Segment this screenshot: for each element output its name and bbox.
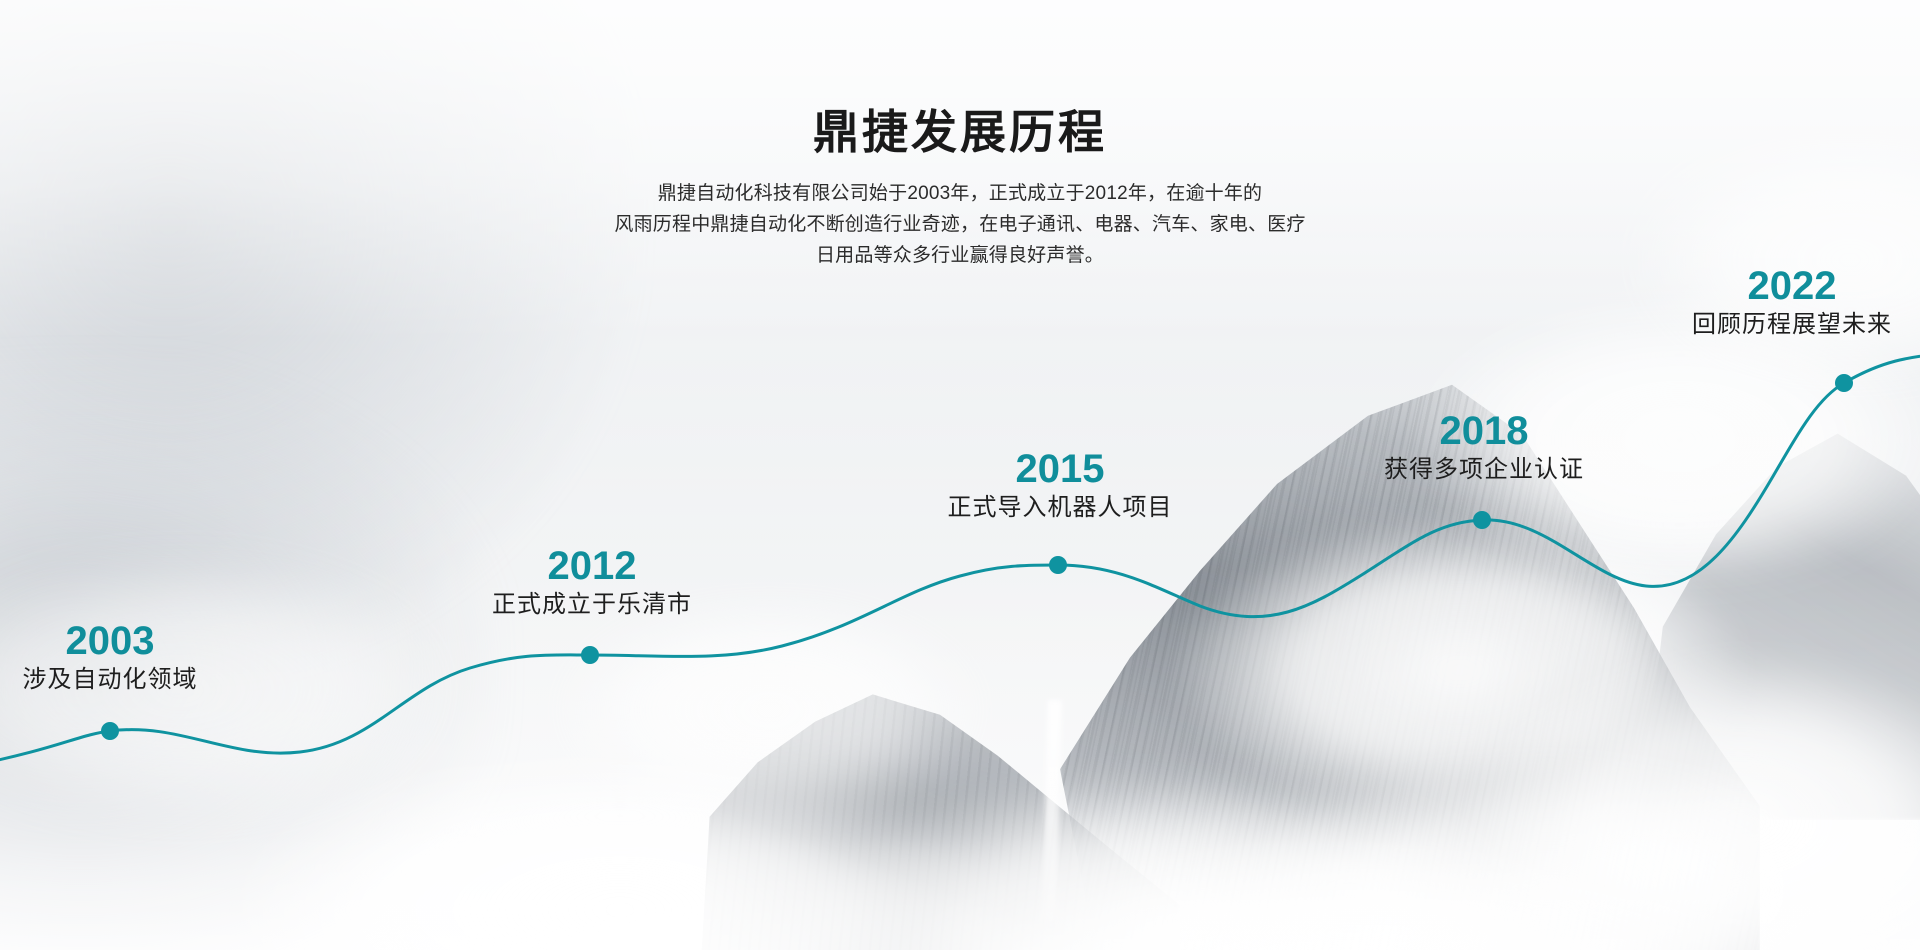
milestone-year: 2012	[492, 545, 692, 587]
milestone-caption: 获得多项企业认证	[1384, 456, 1584, 485]
timeline-node-2003[interactable]	[101, 722, 119, 740]
page-subtitle: 鼎捷自动化科技有限公司始于2003年，正式成立于2012年，在逾十年的 风雨历程…	[0, 178, 1920, 271]
timeline-node-2015[interactable]	[1049, 556, 1067, 574]
milestone-2022[interactable]: 2022 回顾历程展望未来	[1692, 265, 1892, 340]
timeline-node-2022[interactable]	[1835, 374, 1853, 392]
timeline-path	[0, 352, 1920, 766]
subtitle-line-2: 风雨历程中鼎捷自动化不断创造行业奇迹，在电子通讯、电器、汽车、家电、医疗	[0, 209, 1920, 240]
milestone-year: 2022	[1692, 265, 1892, 307]
milestone-2003[interactable]: 2003 涉及自动化领域	[23, 620, 198, 695]
milestone-year: 2018	[1384, 410, 1584, 452]
milestone-year: 2015	[948, 448, 1173, 490]
timeline-infographic: 鼎捷发展历程 鼎捷自动化科技有限公司始于2003年，正式成立于2012年，在逾十…	[0, 0, 1920, 950]
milestone-year: 2003	[23, 620, 198, 662]
header: 鼎捷发展历程 鼎捷自动化科技有限公司始于2003年，正式成立于2012年，在逾十…	[0, 108, 1920, 271]
subtitle-line-1: 鼎捷自动化科技有限公司始于2003年，正式成立于2012年，在逾十年的	[0, 178, 1920, 209]
milestone-caption: 回顾历程展望未来	[1692, 311, 1892, 340]
milestone-caption: 涉及自动化领域	[23, 666, 198, 695]
timeline-node-2012[interactable]	[581, 646, 599, 664]
milestone-caption: 正式导入机器人项目	[948, 494, 1173, 523]
milestone-2018[interactable]: 2018 获得多项企业认证	[1384, 410, 1584, 485]
milestone-2012[interactable]: 2012 正式成立于乐清市	[492, 545, 692, 620]
timeline-nodes	[101, 374, 1853, 740]
milestone-caption: 正式成立于乐清市	[492, 591, 692, 620]
timeline-node-2018[interactable]	[1473, 511, 1491, 529]
subtitle-line-3: 日用品等众多行业赢得良好声誉。	[0, 240, 1920, 271]
milestone-2015[interactable]: 2015 正式导入机器人项目	[948, 448, 1173, 523]
page-title: 鼎捷发展历程	[0, 108, 1920, 156]
